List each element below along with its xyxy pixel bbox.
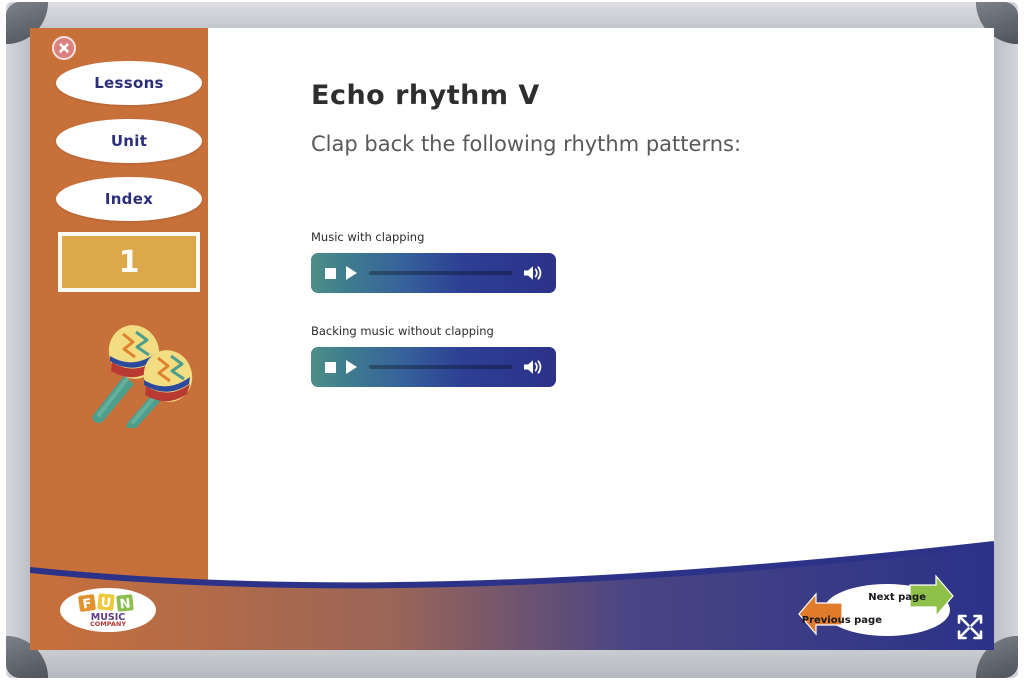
sidebar-item-label: Unit: [111, 132, 147, 150]
audio-block-music-with-clapping: Music with clapping: [311, 230, 556, 293]
frame-top-bar: [6, 2, 1018, 28]
speaker-icon[interactable]: [522, 264, 544, 282]
screenshot-root: Lessons Unit Index 1: [0, 0, 1024, 683]
svg-text:U: U: [100, 596, 112, 612]
audio-progress-bar[interactable]: [369, 271, 512, 275]
speaker-glyph: [522, 358, 544, 376]
frame-bottom-bar: [6, 650, 1018, 678]
frame-left-bar: [6, 2, 30, 678]
stop-icon[interactable]: [325, 362, 336, 373]
previous-page-label[interactable]: Previous page: [802, 615, 882, 626]
audio-block-backing-music: Backing music without clapping: [311, 324, 556, 387]
close-x-glyph: [57, 41, 71, 55]
fullscreen-icon[interactable]: [956, 613, 984, 641]
page-number-button[interactable]: 1: [58, 232, 200, 292]
logo-icon: F U N MUSIC COMPANY: [68, 592, 148, 628]
fun-music-company-logo[interactable]: F U N MUSIC COMPANY: [60, 588, 156, 632]
audio-player[interactable]: [311, 347, 556, 387]
sidebar-item-label: Lessons: [94, 74, 164, 92]
sidebar-item-lessons[interactable]: Lessons: [56, 61, 202, 105]
page-subtitle: Clap back the following rhythm patterns:: [311, 132, 741, 156]
page-number-label: 1: [119, 245, 140, 280]
whiteboard-frame: Lessons Unit Index 1: [6, 2, 1018, 678]
speaker-glyph: [522, 264, 544, 282]
audio-label: Music with clapping: [311, 230, 556, 244]
page-title: Echo rhythm V: [311, 80, 540, 111]
sidebar-item-unit[interactable]: Unit: [56, 119, 202, 163]
stop-icon[interactable]: [325, 268, 336, 279]
audio-player[interactable]: [311, 253, 556, 293]
lesson-slide: Lessons Unit Index 1: [30, 28, 994, 650]
previous-page-arrow-icon[interactable]: [796, 592, 846, 636]
svg-text:COMPANY: COMPANY: [90, 620, 126, 628]
play-icon[interactable]: [346, 360, 357, 374]
maracas-icon: [78, 318, 198, 428]
play-icon[interactable]: [346, 266, 357, 280]
sidebar-item-index[interactable]: Index: [56, 177, 202, 221]
svg-text:N: N: [119, 596, 131, 612]
audio-progress-bar[interactable]: [369, 365, 512, 369]
speaker-icon[interactable]: [522, 358, 544, 376]
next-page-label[interactable]: Next page: [868, 592, 926, 603]
audio-label: Backing music without clapping: [311, 324, 556, 338]
frame-right-bar: [994, 2, 1018, 678]
sidebar-item-label: Index: [105, 190, 153, 208]
close-icon[interactable]: [52, 36, 76, 60]
